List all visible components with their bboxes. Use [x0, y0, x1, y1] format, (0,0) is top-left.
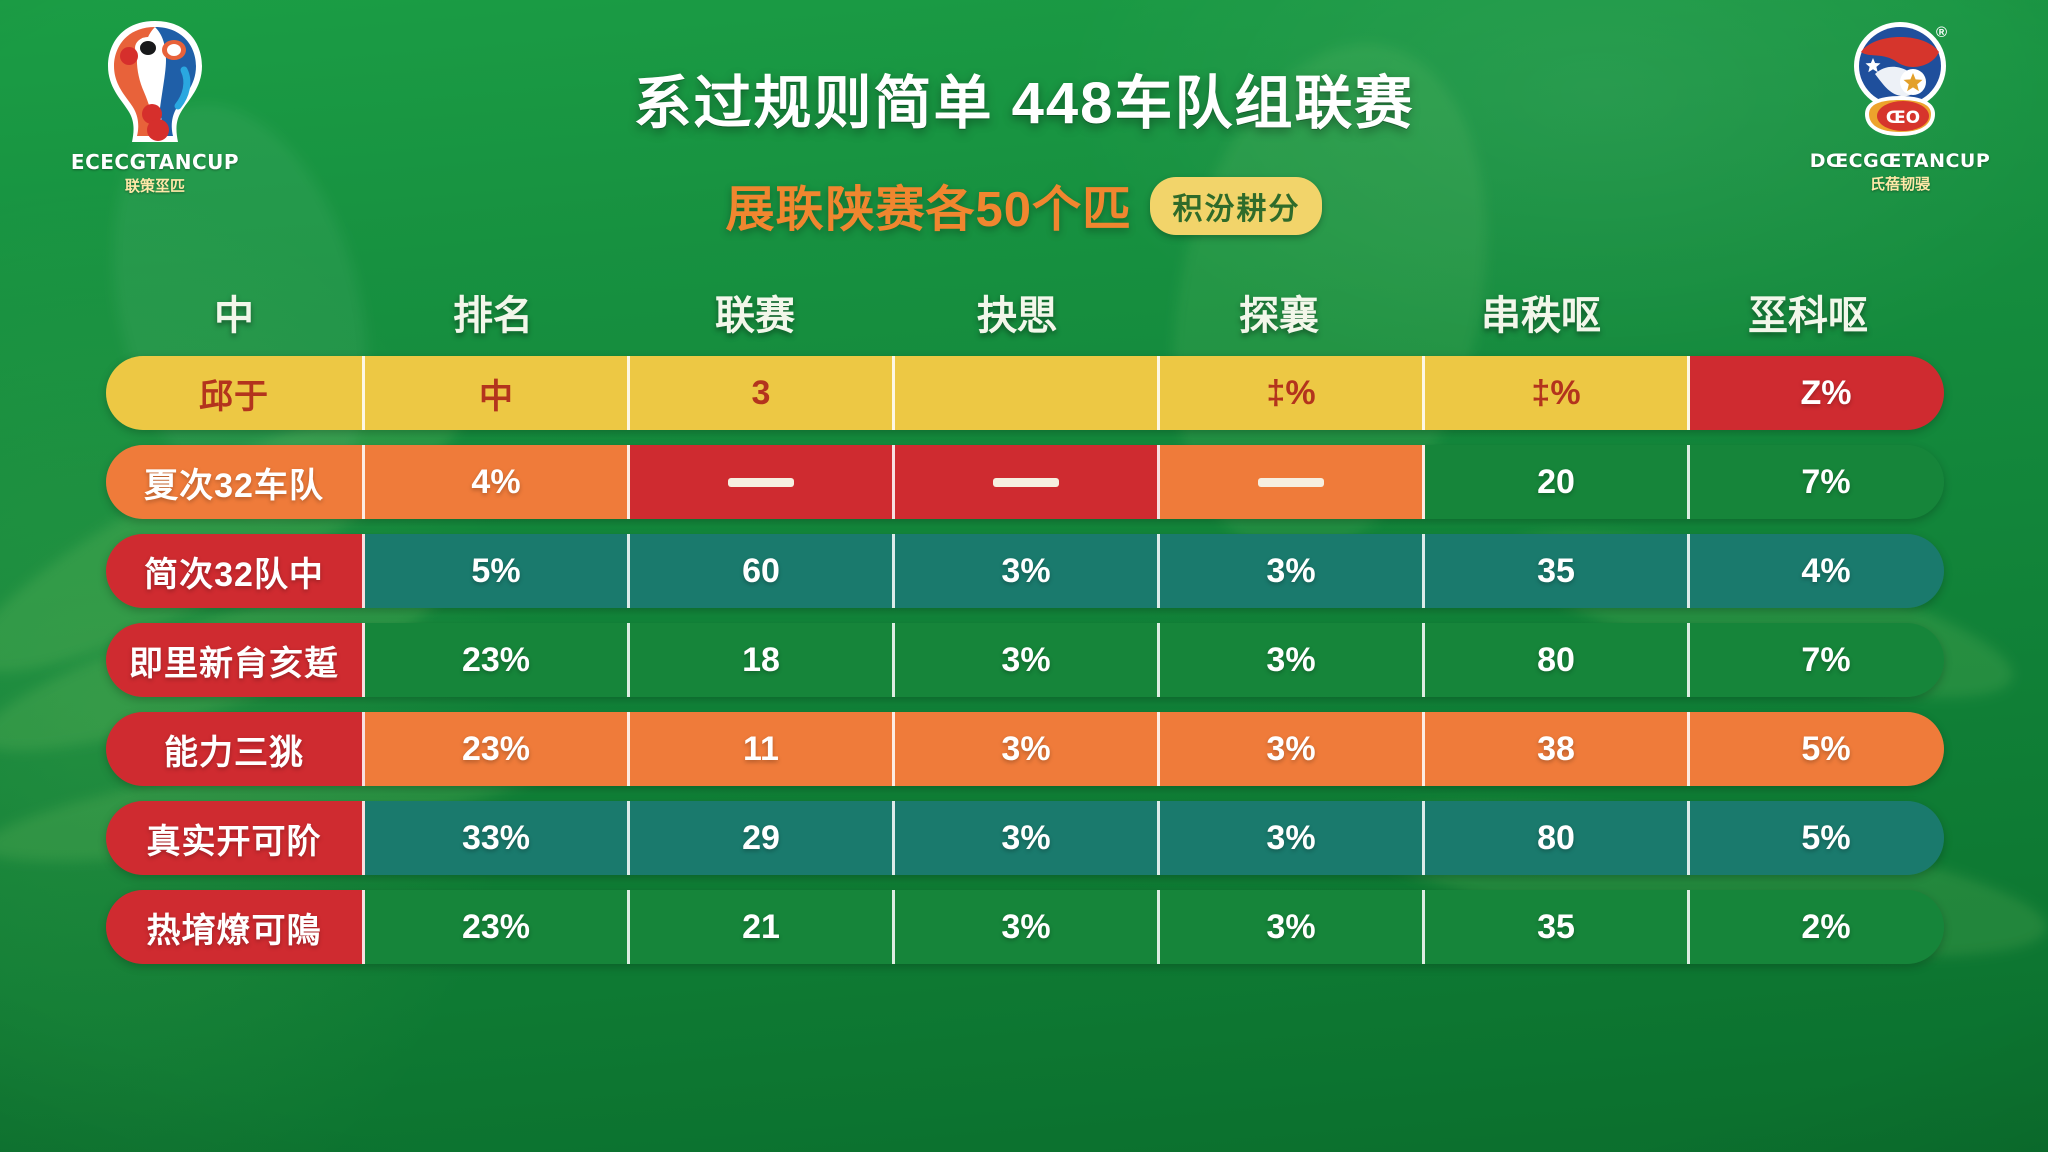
row-label-text: 热堉燎可隝	[147, 903, 322, 952]
cell-value: 35	[1537, 908, 1575, 947]
cell-value: 5%	[1801, 819, 1850, 858]
cell-value: 33%	[462, 819, 530, 858]
cell-value: 80	[1537, 641, 1575, 680]
cell-value: 80	[1537, 819, 1575, 858]
cell-value: 23%	[462, 730, 530, 769]
cell-value: 3%	[1001, 730, 1050, 769]
cell-value: 60	[742, 552, 780, 591]
cell-value: 38	[1537, 730, 1575, 769]
cell-value: ‡%	[1266, 374, 1315, 413]
cell-value: 5%	[471, 552, 520, 591]
cell-value: 3%	[1001, 908, 1050, 947]
cell-value: 23%	[462, 908, 530, 947]
cell-value: ‡%	[1531, 374, 1580, 413]
cell-value: Z%	[1801, 374, 1852, 413]
row-label-text: 邱于	[199, 369, 269, 418]
row-label-text: 夏次32车队	[144, 458, 324, 507]
cell-value: 4%	[1801, 552, 1850, 591]
cell-value: 3%	[1266, 908, 1315, 947]
cell-value: 3%	[1266, 819, 1315, 858]
row-label-text: 能力三狣	[164, 725, 304, 774]
cell-value: 18	[742, 641, 780, 680]
poster-canvas: ECECGTANCUP 联策坙匹 ŒO ® DŒCGŒTANCUP 氏蓓韧骎 系…	[0, 0, 2048, 1152]
row-label-text: 即里新䏍亥踅	[129, 636, 339, 685]
cell-value: 3%	[1266, 552, 1315, 591]
cell-value: 5%	[1801, 730, 1850, 769]
cell-value: 3%	[1266, 730, 1315, 769]
cell-value: 4%	[471, 463, 520, 502]
cell-value: 7%	[1801, 463, 1850, 502]
row-label-text: 真实开可阶	[147, 814, 322, 863]
cell-value: 29	[742, 819, 780, 858]
cell-value: 中	[479, 369, 513, 418]
cell-value: 23%	[462, 641, 530, 680]
cell-value: 3%	[1001, 819, 1050, 858]
cell-value: 7%	[1801, 641, 1850, 680]
cell-value: 20	[1537, 463, 1575, 502]
cell-value: 3	[752, 374, 771, 413]
row-label-text: 简次32队中	[144, 547, 324, 596]
cell-value: 2%	[1801, 908, 1850, 947]
cell-value: 35	[1537, 552, 1575, 591]
cell-value: 11	[743, 730, 779, 769]
cell-value: 3%	[1001, 552, 1050, 591]
cell-value: 3%	[1266, 641, 1315, 680]
cell-value: 21	[742, 908, 780, 947]
cell-value: 3%	[1001, 641, 1050, 680]
